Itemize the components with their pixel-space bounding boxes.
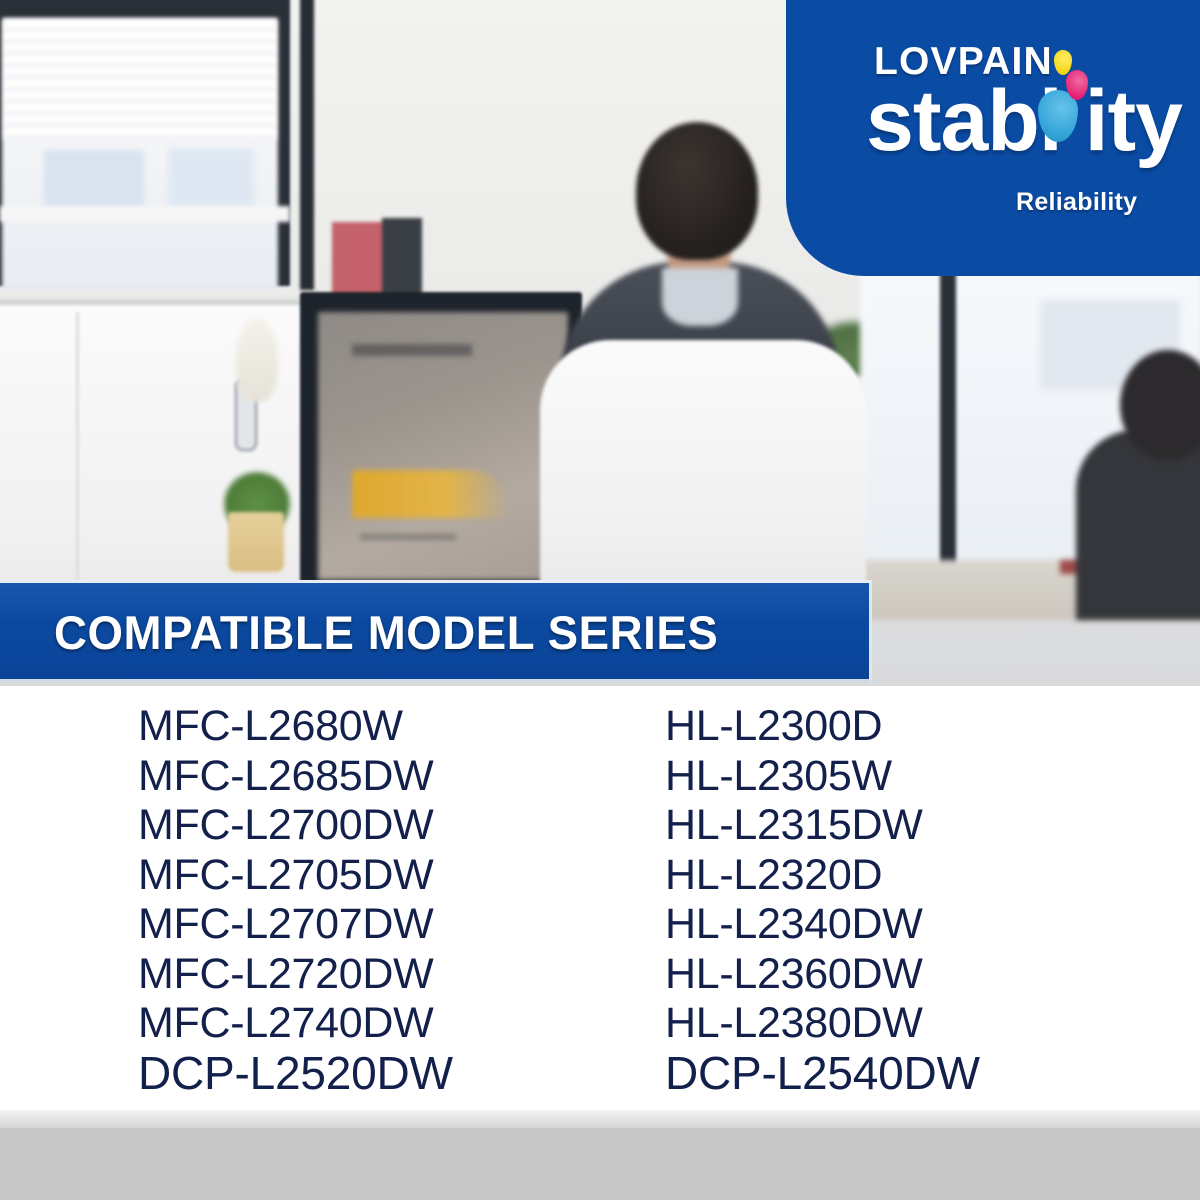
brand-tagline-reliability: Reliability [1016,188,1137,217]
compatible-model-series-banner: COMPATIBLE MODEL SERIES [0,580,872,682]
model-item: HL-L2315DW [665,801,980,851]
model-item: MFC-L2680W [138,702,453,752]
window-blinds [4,20,276,140]
yellow-ink-drop-icon [1054,50,1072,75]
model-item: MFC-L2707DW [138,900,453,950]
model-item: DCP-L2540DW [665,1049,980,1099]
cabinet-door-seam [76,312,79,602]
window-pane-b [168,148,254,212]
model-item: HL-L2380DW [665,999,980,1049]
ink-drops-group [1036,44,1104,140]
person-shirt-collar [662,268,738,326]
screen-content-bar [352,344,472,356]
model-column-left: MFC-L2680W MFC-L2685DW MFC-L2700DW MFC-L… [138,702,453,1098]
compatible-models-list: MFC-L2680W MFC-L2685DW MFC-L2700DW MFC-L… [0,686,1200,1128]
brand-logo-panel: LOVPAIN stabi ity Reliability [786,0,1200,276]
model-item: MFC-L2685DW [138,752,453,802]
product-infographic: LOVPAIN stabi ity Reliability COMPATIBLE… [0,0,1200,1200]
model-item: DCP-L2520DW [138,1049,453,1099]
window-sill [0,206,290,222]
window-mullion [300,0,314,290]
dark-folder [382,218,422,302]
vase [236,318,278,402]
second-person-body [1076,430,1200,620]
model-item: MFC-L2720DW [138,950,453,1000]
window-pane-a [44,150,144,212]
person-head [636,122,758,260]
model-item: MFC-L2705DW [138,851,453,901]
model-item: HL-L2340DW [665,900,980,950]
screen-content-line [360,534,456,540]
model-item: HL-L2360DW [665,950,980,1000]
model-column-right: HL-L2300D HL-L2305W HL-L2315DW HL-L2320D… [665,702,980,1098]
surface-edge [0,1110,1200,1129]
model-item: MFC-L2700DW [138,801,453,851]
model-item: HL-L2300D [665,702,980,752]
banner-title: COMPATIBLE MODEL SERIES [54,605,718,660]
model-item: MFC-L2740DW [138,999,453,1049]
brand-wordmark-stability: stabi ity [866,78,1182,164]
magenta-ink-drop-icon [1066,70,1088,100]
screen-content-chart [352,470,510,518]
surface-band [0,1128,1200,1200]
model-item: HL-L2305W [665,752,980,802]
plant-pot [228,512,284,572]
model-item: HL-L2320D [665,851,980,901]
